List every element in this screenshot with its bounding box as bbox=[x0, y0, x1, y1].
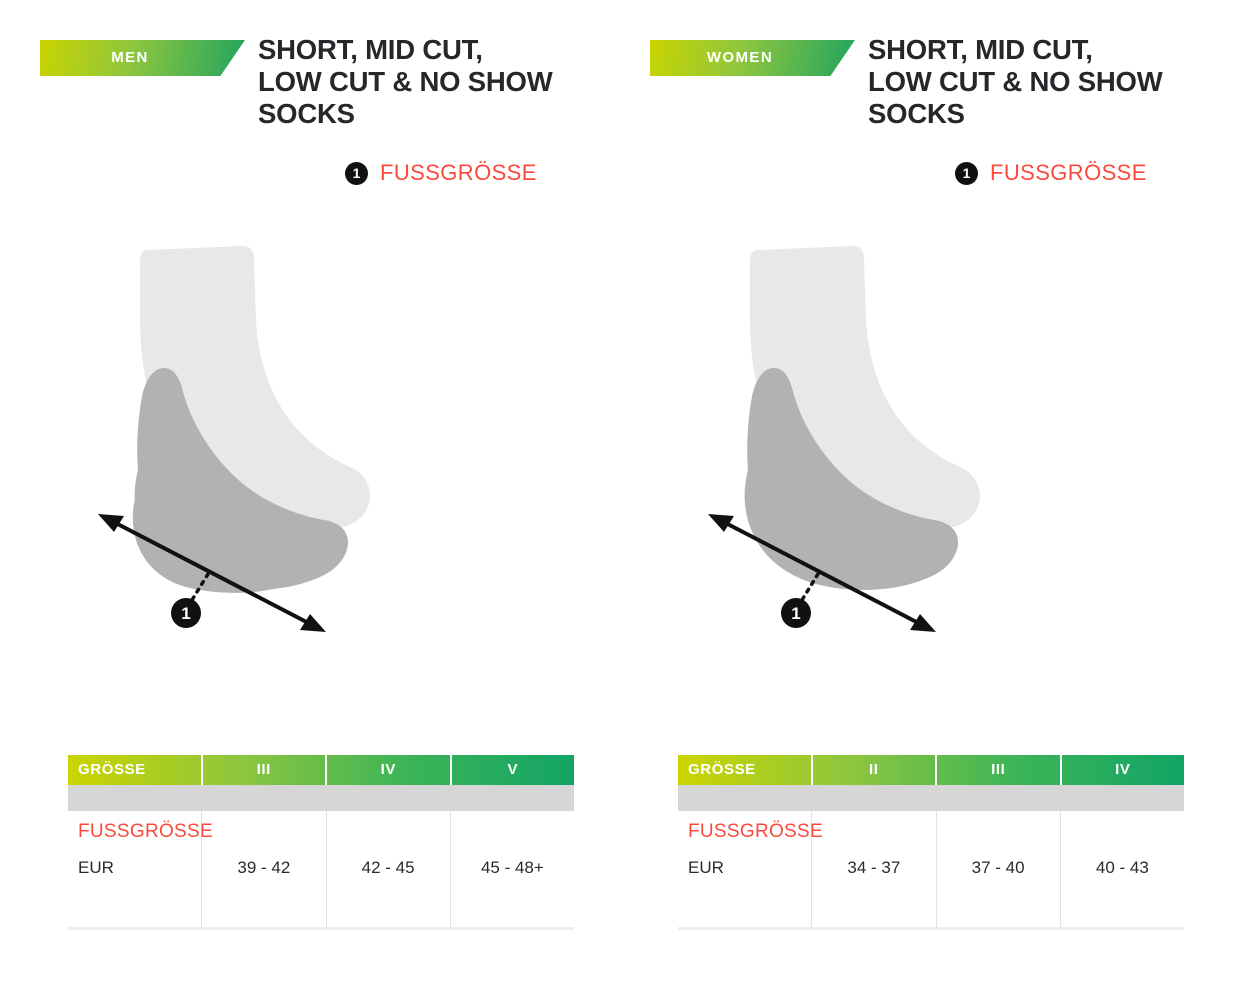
legend-women: 1 FUSSGRÖSSE bbox=[955, 160, 1147, 186]
table-bottom-border bbox=[68, 927, 574, 930]
size-panel-women: WOMEN SHORT, MID CUT, LOW CUT & NO SHOW … bbox=[650, 0, 1258, 990]
title-line-2: LOW CUT & NO SHOW bbox=[868, 66, 1248, 98]
table-cell-empty-2 bbox=[327, 883, 451, 927]
table-bottom-border bbox=[678, 927, 1184, 930]
table-header-row: GRÖSSE II III IV bbox=[678, 755, 1184, 785]
table-cell-empty-1 bbox=[202, 883, 326, 927]
panel-header-women: WOMEN SHORT, MID CUT, LOW CUT & NO SHOW … bbox=[650, 40, 1258, 160]
table-body: FUSSGRÖSSE EUR 34 - 37 37 - 40 40 - 43 bbox=[678, 811, 1184, 927]
table-cell-value-1: 34 - 37 bbox=[812, 811, 936, 883]
legend-marker-icon: 1 bbox=[345, 162, 368, 185]
table-header-cell-0: GRÖSSE bbox=[678, 755, 813, 785]
legend-men: 1 FUSSGRÖSSE bbox=[345, 160, 537, 186]
table-header-cell-2: IV bbox=[327, 755, 452, 785]
panel-header-men: MEN SHORT, MID CUT, LOW CUT & NO SHOW SO… bbox=[40, 40, 650, 160]
table-subheader-clipped-text: — bbox=[690, 785, 717, 792]
table-row-spacer bbox=[678, 883, 1184, 927]
table-cell-empty-0 bbox=[678, 883, 812, 927]
table-cell-value-3: 45 - 48+ bbox=[451, 811, 574, 883]
legend-marker-icon: 1 bbox=[955, 162, 978, 185]
sock-diagram-svg: 1 bbox=[40, 240, 650, 660]
title-line-1: SHORT, MID CUT, bbox=[868, 34, 1248, 66]
table-section-label: FUSSGRÖSSE bbox=[78, 821, 213, 843]
table-header-cell-2: III bbox=[937, 755, 1062, 785]
foot-length-marker: 1 bbox=[171, 598, 201, 628]
table-row-spacer bbox=[68, 883, 574, 927]
legend-label: FUSSGRÖSSE bbox=[380, 160, 537, 186]
table-subheader-row: — bbox=[68, 785, 574, 811]
table-header-cell-1: III bbox=[203, 755, 328, 785]
foot-length-marker: 1 bbox=[781, 598, 811, 628]
svg-text:1: 1 bbox=[181, 604, 190, 623]
table-cell-empty-0 bbox=[68, 883, 202, 927]
table-subheader-clipped-text: — bbox=[80, 785, 107, 792]
table-cell-value-2: 42 - 45 bbox=[327, 811, 451, 883]
title-line-3: SOCKS bbox=[868, 98, 1248, 130]
table-header-cell-3: IV bbox=[1062, 755, 1185, 785]
page-title-men: SHORT, MID CUT, LOW CUT & NO SHOW SOCKS bbox=[258, 34, 638, 130]
table-header-cell-1: II bbox=[813, 755, 938, 785]
size-table-women: GRÖSSE II III IV — FUSSGRÖSSE EUR 34 - 3… bbox=[678, 755, 1184, 930]
table-cell-empty-1 bbox=[812, 883, 936, 927]
table-cell-empty-3 bbox=[1061, 883, 1184, 927]
size-panel-men: MEN SHORT, MID CUT, LOW CUT & NO SHOW SO… bbox=[40, 0, 650, 990]
sock-illustration-women: 1 bbox=[650, 240, 1258, 660]
table-cell-empty-2 bbox=[937, 883, 1061, 927]
size-table-men: GRÖSSE III IV V — FUSSGRÖSSE EUR 39 - 42… bbox=[68, 755, 574, 930]
table-subheader-row: — bbox=[678, 785, 1184, 811]
gender-banner-label-men: MEN bbox=[40, 40, 220, 76]
title-line-1: SHORT, MID CUT, bbox=[258, 34, 638, 66]
title-line-2: LOW CUT & NO SHOW bbox=[258, 66, 638, 98]
table-cell-value-2: 37 - 40 bbox=[937, 811, 1061, 883]
table-header-cell-0: GRÖSSE bbox=[68, 755, 203, 785]
table-section-label: FUSSGRÖSSE bbox=[688, 821, 823, 843]
svg-text:1: 1 bbox=[791, 604, 800, 623]
table-body: FUSSGRÖSSE EUR 39 - 42 42 - 45 45 - 48+ bbox=[68, 811, 574, 927]
table-header-cell-3: V bbox=[452, 755, 575, 785]
table-cell-value-1: 39 - 42 bbox=[202, 811, 326, 883]
table-header-row: GRÖSSE III IV V bbox=[68, 755, 574, 785]
page-title-women: SHORT, MID CUT, LOW CUT & NO SHOW SOCKS bbox=[868, 34, 1248, 130]
sock-illustration-men: 1 bbox=[40, 240, 650, 660]
table-cell-value-3: 40 - 43 bbox=[1061, 811, 1184, 883]
title-line-3: SOCKS bbox=[258, 98, 638, 130]
table-cell-empty-3 bbox=[451, 883, 574, 927]
sock-diagram-svg: 1 bbox=[650, 240, 1258, 660]
gender-banner-label-women: WOMEN bbox=[650, 40, 830, 76]
legend-label: FUSSGRÖSSE bbox=[990, 160, 1147, 186]
